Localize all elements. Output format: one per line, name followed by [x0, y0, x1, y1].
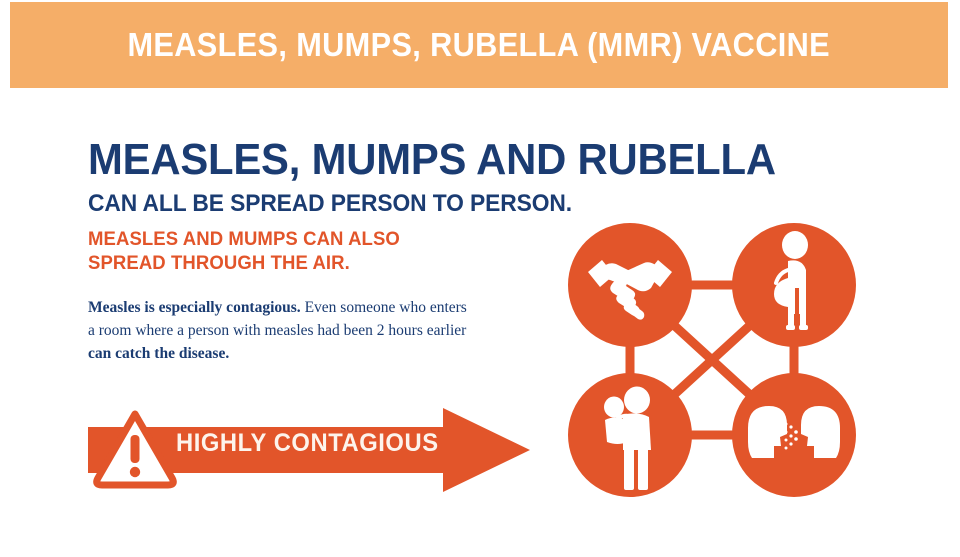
highly-contagious-label: HIGHLY CONTAGIOUS	[176, 429, 423, 458]
warning-triangle-icon	[92, 408, 178, 492]
sub-headline: CAN ALL BE SPREAD PERSON TO PERSON.	[88, 190, 535, 218]
highly-contagious-banner: HIGHLY CONTAGIOUS	[88, 400, 538, 500]
diagram-node-handshake	[568, 223, 692, 347]
body-lead-bold: Measles is especially contagious.	[88, 299, 301, 316]
air-spread-headline: MEASLES AND MUMPS CAN ALSO SPREAD THROUG…	[88, 227, 468, 275]
header-banner: MEASLES, MUMPS, RUBELLA (MMR) VACCINE	[10, 2, 948, 88]
main-headline: MEASLES, MUMPS AND RUBELLA	[88, 136, 535, 184]
diagram-node-pregnant-person	[732, 223, 856, 347]
diagram-node-sneezing-heads	[732, 373, 856, 497]
page-title: MEASLES, MUMPS, RUBELLA (MMR) VACCINE	[128, 26, 831, 64]
body-paragraph: Measles is especially contagious. Even s…	[88, 296, 473, 365]
infographic-page: MEASLES, MUMPS, RUBELLA (MMR) VACCINE ME…	[0, 0, 960, 557]
text-column: MEASLES, MUMPS AND RUBELLA CAN ALL BE SP…	[88, 136, 558, 365]
diagram-node-adult-with-child	[568, 373, 692, 497]
transmission-diagram	[552, 210, 902, 510]
body-tail-bold: can catch the disease.	[88, 345, 229, 362]
